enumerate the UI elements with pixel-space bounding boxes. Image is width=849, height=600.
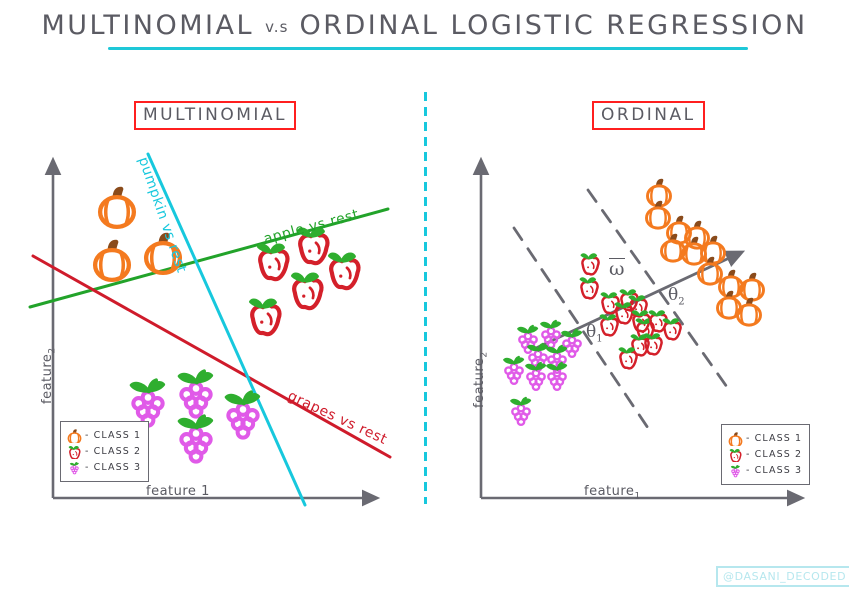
- right-class1-pumpkins: [647, 180, 764, 325]
- legend-label-class2: - CLASS 2: [746, 449, 802, 460]
- whiteboard-canvas: MULTINOMIAL v.s ORDINAL LOGISTIC REGRESS…: [0, 0, 849, 600]
- left-x-axis-label: feature 1: [146, 484, 210, 499]
- theta1-symbol: θ: [586, 322, 596, 342]
- right-x-axis-label-text: feature: [584, 484, 634, 499]
- theta1-subscript: 1: [596, 333, 602, 344]
- pumpkin-icon: [727, 431, 744, 446]
- grapes-icon: [66, 460, 83, 475]
- legend-label-class2: - CLASS 2: [85, 446, 141, 457]
- watermark: @DASANI_DECODED: [716, 566, 849, 587]
- legend-label-class3: - CLASS 3: [85, 462, 141, 473]
- decision-boundary-cyan: [148, 154, 305, 505]
- legend-label-class1: - CLASS 1: [746, 433, 802, 444]
- apple-icon: [727, 447, 744, 462]
- theta1-label: θ1: [586, 322, 603, 344]
- right-y-axis-label-text: feature: [472, 358, 487, 408]
- legend-item-class3: - CLASS 3: [66, 460, 141, 475]
- legend-item-class3: - CLASS 3: [727, 463, 802, 478]
- pumpkin-icon: [66, 428, 83, 443]
- legend-ordinal: - CLASS 1 - CLASS 2 - CLASS 3: [721, 424, 810, 485]
- right-y-axis-label: feature2: [472, 351, 490, 408]
- right-class3-grapes: [504, 321, 581, 425]
- figure-layer: [0, 0, 849, 600]
- legend-label-class1: - CLASS 1: [85, 430, 141, 441]
- legend-item-class1: - CLASS 1: [66, 428, 141, 443]
- legend-item-class2: - CLASS 2: [66, 444, 141, 459]
- legend-label-class3: - CLASS 3: [746, 465, 802, 476]
- omega-symbol: ω: [609, 258, 625, 279]
- right-x-axis-label-sub: 1: [634, 492, 640, 502]
- right-y-axis-label-sub: 2: [480, 351, 490, 357]
- left-y-axis-label: feature2: [40, 347, 58, 404]
- right-class2-apples: [581, 254, 681, 368]
- left-y-axis-label-text: feature: [40, 354, 55, 404]
- theta2-subscript: 2: [678, 296, 684, 307]
- apple-icon: [66, 444, 83, 459]
- theta2-label: θ2: [668, 285, 685, 307]
- legend-item-class1: - CLASS 1: [727, 431, 802, 446]
- legend-item-class2: - CLASS 2: [727, 447, 802, 462]
- theta2-symbol: θ: [668, 285, 678, 305]
- left-class3-grapes: [131, 371, 258, 461]
- right-x-axis-label: feature1: [584, 484, 641, 502]
- legend-multinomial: - CLASS 1 - CLASS 2 - CLASS 3: [60, 421, 149, 482]
- omega-vector-label: ω: [609, 258, 625, 280]
- grapes-icon: [727, 463, 744, 478]
- left-y-axis-label-sub: 2: [48, 347, 58, 353]
